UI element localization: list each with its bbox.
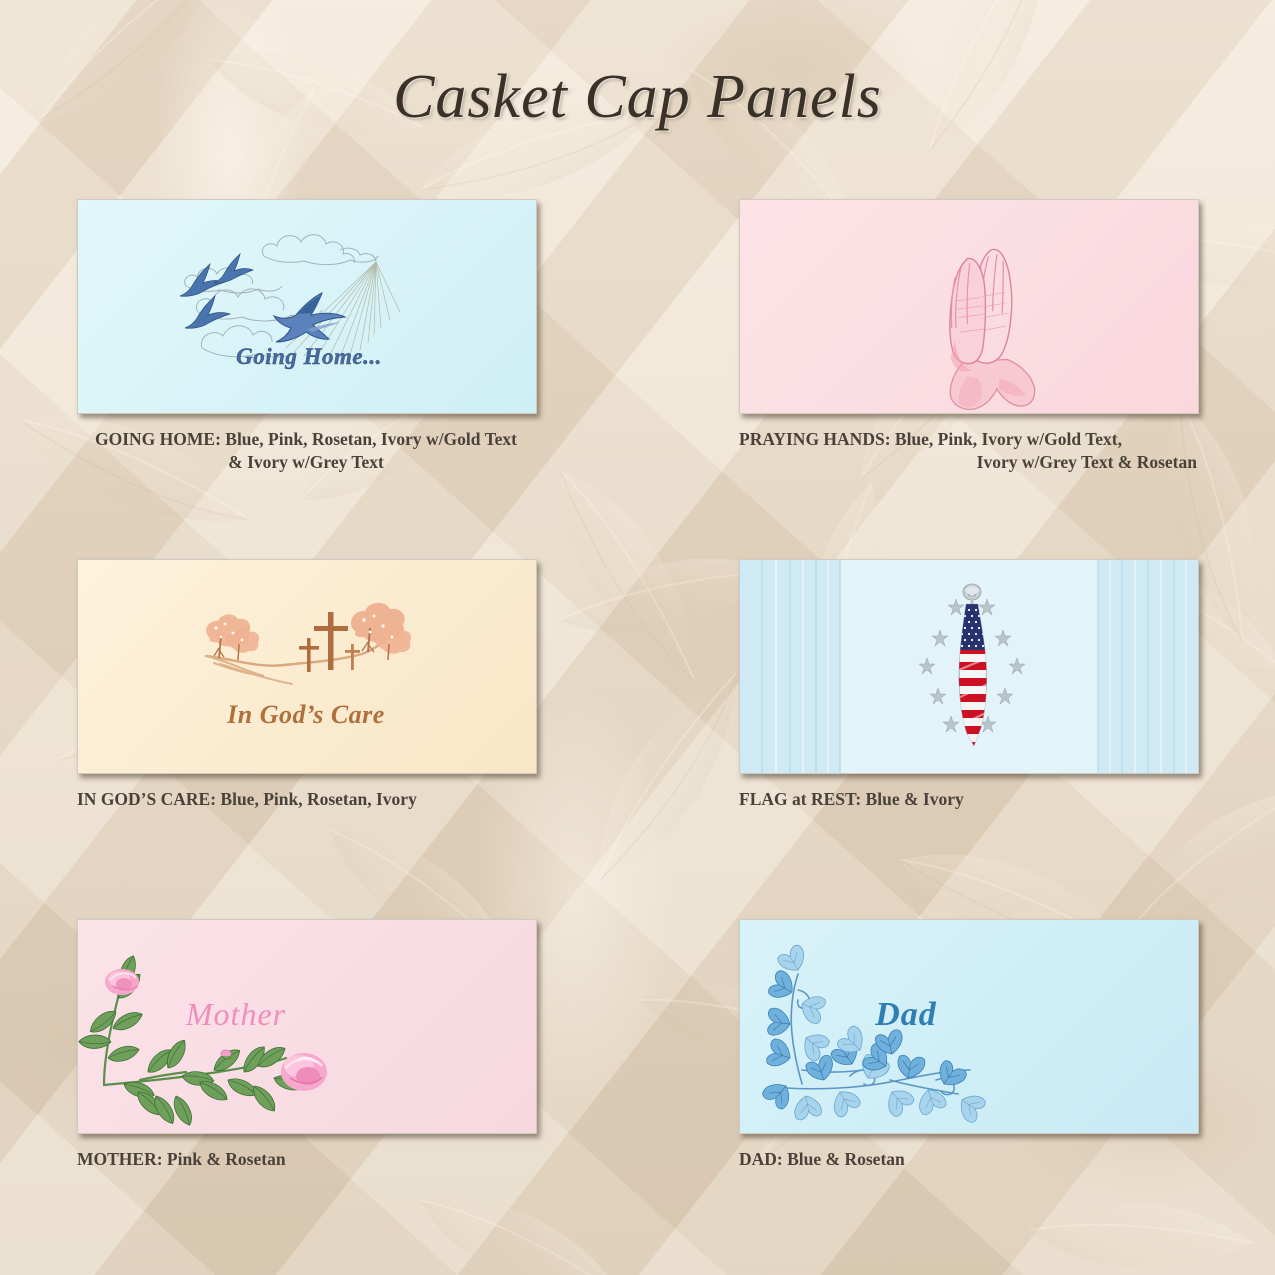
caption-line-1: IN GOD’S CARE: Blue, Pink, Rosetan, Ivor… — [77, 788, 535, 811]
caption-praying-hands: PRAYING HANDS: Blue, Pink, Ivory w/Gold … — [739, 428, 1197, 474]
panel-image-dad[interactable]: Dad — [739, 919, 1199, 1134]
caption-mother: MOTHER: Pink & Rosetan — [77, 1148, 535, 1171]
panel-card-mother[interactable]: Mother MOTHER: Pink & Rosetan — [77, 919, 537, 1171]
caption-line-1: DAD: Blue & Rosetan — [739, 1148, 1197, 1171]
caption-flag-at-rest: FLAG at REST: Blue & Ivory — [739, 788, 1197, 811]
blossom-tree-left — [206, 614, 259, 660]
caption-in-gods-care: IN GOD’S CARE: Blue, Pink, Rosetan, Ivor… — [77, 788, 535, 811]
dove-icon — [274, 293, 345, 342]
caption-going-home: GOING HOME: Blue, Pink, Rosetan, Ivory w… — [77, 428, 535, 474]
caption-line-1: FLAG at REST: Blue & Ivory — [739, 788, 1197, 811]
panel-image-praying-hands[interactable] — [739, 199, 1199, 414]
in-gods-care-artwork: In God’s Care — [78, 560, 536, 773]
praying-hands-icon — [950, 250, 1035, 410]
leaves-left — [78, 954, 146, 1063]
mother-artwork: Mother — [78, 920, 536, 1133]
panel-image-in-gods-care[interactable]: In God’s Care — [77, 559, 537, 774]
dad-artwork: Dad — [740, 920, 1198, 1133]
caption-line-1: PRAYING HANDS: Blue, Pink, Ivory w/Gold … — [739, 428, 1197, 451]
panel-card-praying-hands[interactable]: PRAYING HANDS: Blue, Pink, Ivory w/Gold … — [739, 199, 1199, 474]
dad-artwork-text: Dad — [874, 996, 937, 1033]
panel-card-dad[interactable]: Dad DAD: Blue & Rosetan — [739, 919, 1199, 1171]
panel-card-going-home[interactable]: Going Home... GOING HOME: Blue, Pink, Ro… — [77, 199, 537, 474]
rose-main — [281, 1053, 327, 1091]
going-home-artwork: Going Home... — [78, 200, 536, 413]
ivy-leaves — [761, 943, 988, 1124]
rose-top — [105, 969, 139, 995]
page-title: Casket Cap Panels — [0, 62, 1275, 133]
panel-image-going-home[interactable]: Going Home... — [77, 199, 537, 414]
caption-dad: DAD: Blue & Rosetan — [739, 1148, 1197, 1171]
in-gods-care-artwork-text: In God’s Care — [226, 700, 385, 729]
caption-line-2: Ivory w/Grey Text & Rosetan — [739, 451, 1197, 474]
three-crosses — [299, 612, 360, 672]
panel-card-in-gods-care[interactable]: In God’s Care IN GOD’S CARE: Blue, Pink,… — [77, 559, 537, 811]
caption-line-1: GOING HOME: Blue, Pink, Rosetan, Ivory w… — [77, 428, 535, 451]
mother-artwork-text: Mother — [185, 996, 286, 1032]
caption-line-1: MOTHER: Pink & Rosetan — [77, 1148, 535, 1171]
praying-hands-artwork — [740, 200, 1198, 413]
caption-line-2: & Ivory w/Grey Text — [77, 451, 535, 474]
flag-at-rest-artwork — [740, 560, 1198, 773]
panel-image-mother[interactable]: Mother — [77, 919, 537, 1134]
going-home-artwork-text: Going Home... — [236, 344, 382, 369]
panel-image-flag-at-rest[interactable] — [739, 559, 1199, 774]
leaves-bottom — [122, 1037, 307, 1128]
panel-card-flag-at-rest[interactable]: FLAG at REST: Blue & Ivory — [739, 559, 1199, 811]
